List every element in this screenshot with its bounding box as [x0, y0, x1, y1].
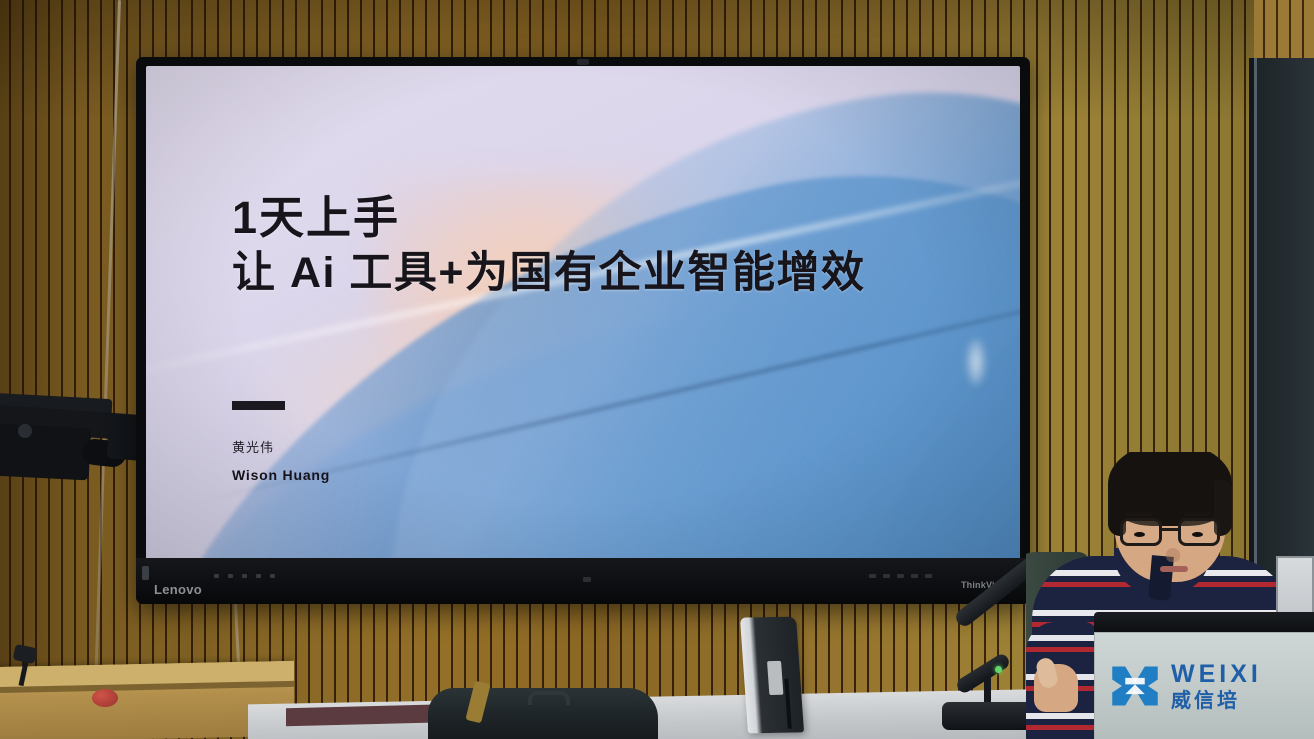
rig-body [0, 424, 91, 481]
weixin-w-logo-icon [1109, 660, 1161, 712]
slide-title-line-2: 让 Ai 工具+为国有企业智能增效 [232, 249, 866, 297]
mic-status-led-icon [995, 666, 1002, 673]
display-button[interactable] [228, 574, 233, 578]
laptop-hinge [784, 679, 791, 729]
display-ports [869, 574, 932, 578]
display-brand-lenovo: Lenovo [154, 582, 202, 597]
mic-head-icon [13, 644, 38, 664]
laptop-lid [1094, 612, 1314, 634]
backpack-handle [528, 691, 570, 705]
slide-title-line-1: 1天上手 [232, 194, 866, 243]
display-button[interactable] [242, 574, 247, 578]
presentation-display[interactable]: 1天上手 让 Ai 工具+为国有企业智能增效 黄光伟 Wison Huang [136, 57, 1030, 604]
display-button[interactable] [256, 574, 261, 578]
polo-placket [1148, 555, 1174, 601]
port [869, 574, 876, 578]
wall-strip-right [1254, 0, 1314, 58]
display-panel: 1天上手 让 Ai 工具+为国有企业智能增效 黄光伟 Wison Huang [146, 66, 1020, 562]
display-button[interactable] [270, 574, 275, 578]
display-chin: Lenovo ThinkVision [136, 558, 1030, 604]
presenter-eye-right [1192, 532, 1203, 537]
mic-base[interactable] [942, 702, 1038, 730]
port [897, 574, 904, 578]
port [911, 574, 918, 578]
slide-presenter-block: 黄光伟 Wison Huang [232, 401, 330, 483]
presentation-room-scene: 1天上手 让 Ai 工具+为国有企业智能增效 黄光伟 Wison Huang [0, 0, 1314, 739]
lectern-microphone [8, 652, 48, 692]
banner-brand-en: WEIXI [1171, 662, 1262, 687]
port [883, 574, 890, 578]
presenter-eyebrow-right [1184, 512, 1210, 516]
presenter-divider [232, 401, 285, 410]
presenter-nose [1166, 548, 1180, 562]
laptop-label [767, 661, 783, 695]
presenter-laptop[interactable]: WEIXI 威信培 [1094, 612, 1314, 739]
power-led-icon [142, 566, 149, 580]
presenter-eyebrow-left [1126, 512, 1152, 516]
presenter-eye-left [1134, 532, 1145, 537]
rig-knob [18, 424, 32, 438]
banner-text-block: WEIXI 威信培 [1171, 662, 1262, 711]
port [925, 574, 932, 578]
glasses-bridge [1162, 528, 1178, 531]
slide-glint [967, 339, 985, 385]
presenter-name-cn: 黄光伟 [232, 437, 330, 456]
banner-brand-cn: 威信培 [1171, 691, 1262, 711]
webcam-icon [577, 59, 589, 65]
red-object [92, 689, 118, 707]
display-button[interactable] [214, 574, 219, 578]
slide-canvas: 1天上手 让 Ai 工具+为国有企业智能增效 黄光伟 Wison Huang [146, 66, 1020, 562]
presenter-name-en: Wison Huang [232, 467, 330, 483]
mic-arm-lower [954, 652, 1011, 695]
display-control-buttons[interactable] [214, 574, 275, 578]
slide-title-block: 1天上手 让 Ai 工具+为国有企业智能增效 [232, 194, 866, 297]
presenter-mouth [1160, 566, 1188, 572]
secondary-laptop[interactable] [740, 617, 804, 734]
weixin-training-banner: WEIXI 威信培 [1094, 632, 1314, 739]
ir-receiver-icon [583, 577, 591, 582]
